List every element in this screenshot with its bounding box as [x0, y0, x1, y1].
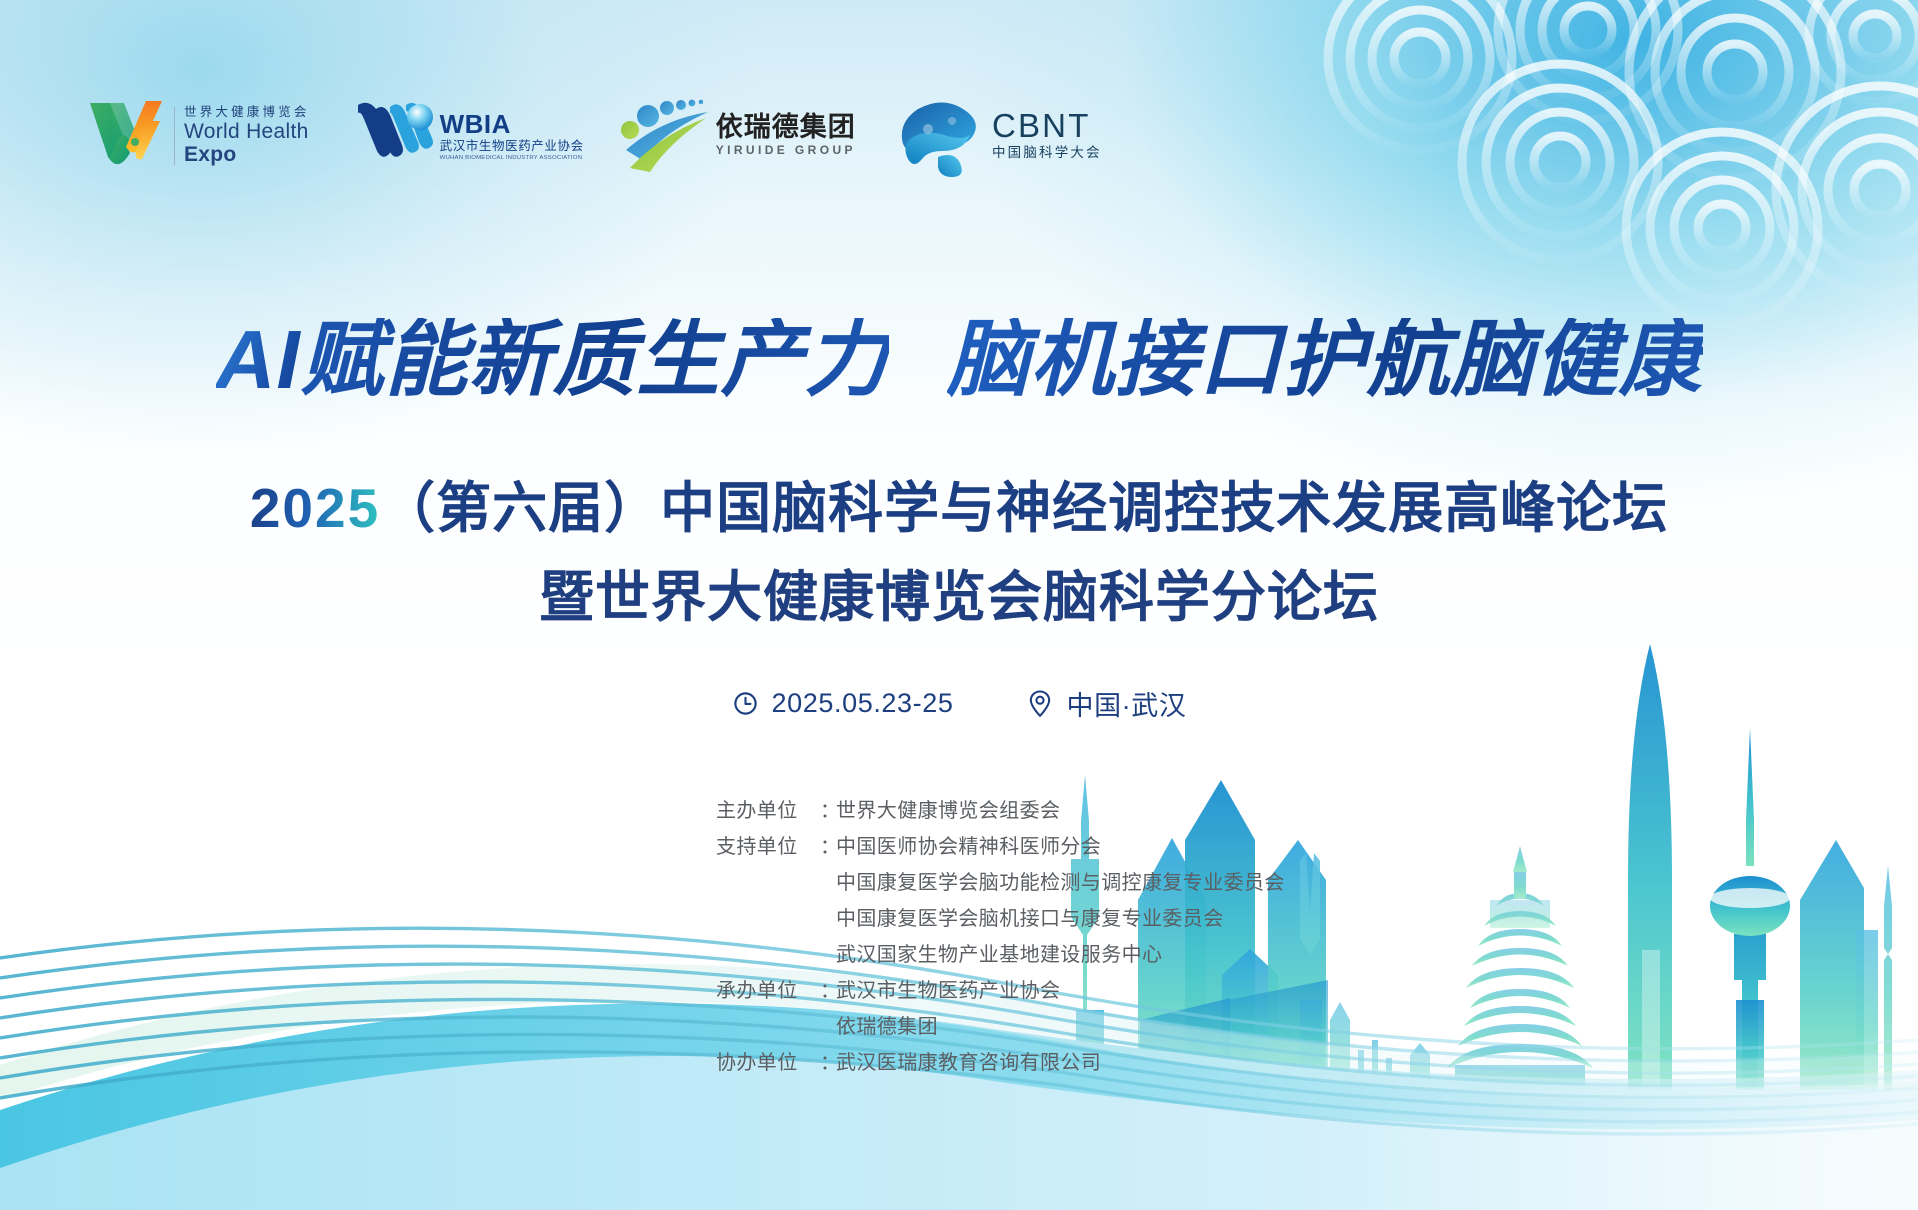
- organizer-value: 中国康复医学会脑功能检测与调控康复专业委员会: [836, 865, 1285, 901]
- organizer-value: 世界大健康博览会组委会: [836, 793, 1285, 829]
- yiruide-en: YIRUIDE GROUP: [716, 142, 856, 159]
- poster-headline: AI赋能新质生产力 脑机接口护航脑健康: [0, 318, 1918, 401]
- cbnt-cn: 中国脑科学大会: [992, 142, 1102, 164]
- event-location-text: 中国·武汉: [1066, 684, 1186, 723]
- logo-yiruide-group: 依瑞德集团 YIRUIDE GROUP: [620, 90, 856, 182]
- wbia-cn: 武汉市生物医药产业协会: [440, 137, 584, 156]
- organizer-row: 承办单位 ： 武汉市生物医药产业协会: [716, 973, 1285, 1009]
- subtitle-line-1-rest: （第六届）中国脑科学与神经调控技术发展高峰论坛: [380, 477, 1668, 539]
- organizer-row: 支持单位 ： 武汉国家生物产业基地建设服务中心: [716, 937, 1285, 973]
- organizer-row: 支持单位 ： 中国康复医学会脑功能检测与调控康复专业委员会: [716, 865, 1285, 901]
- event-date: 2025.05.23-25: [732, 688, 954, 719]
- organizer-label: 协办单位: [716, 1045, 820, 1081]
- cbnt-brain-mark: [898, 95, 984, 177]
- wbia-en: WBIA: [440, 111, 584, 137]
- poster-subtitle-line-1: 2025（第六届）中国脑科学与神经调控技术发展高峰论坛: [0, 463, 1918, 543]
- organizer-row: 协办单位 ： 武汉医瑞康教育咨询有限公司: [716, 1045, 1285, 1081]
- cbnt-en: CBNT: [992, 109, 1102, 142]
- world-health-expo-en-1: World Health: [184, 121, 310, 143]
- clock-icon: [732, 690, 759, 717]
- organizer-row: 承办单位 ： 依瑞德集团: [716, 1009, 1285, 1045]
- organizer-list: 主办单位 ： 世界大健康博览会组委会 支持单位 ： 中国医师协会精神科医师分会 …: [716, 793, 1285, 1081]
- headline-part-1-text: 赋能新质生产力: [301, 313, 889, 406]
- organizer-row: 支持单位 ： 中国医师协会精神科医师分会: [716, 829, 1285, 865]
- poster-subtitle-line-2: 暨世界大健康博览会脑科学分论坛: [0, 552, 1918, 632]
- headline-part-2: 脑机接口护航脑健康: [947, 318, 1703, 401]
- organizer-value: 依瑞德集团: [836, 1009, 1285, 1045]
- organizer-colon: ：: [820, 829, 836, 865]
- world-health-expo-mark: [84, 95, 168, 177]
- logo-wbia: WBIA 武汉市生物医药产业协会 WUHAN BIOMEDICAL INDUST…: [354, 90, 584, 182]
- yiruide-mark: [620, 96, 712, 176]
- organizer-colon: ：: [820, 973, 836, 1009]
- organizer-label: 支持单位: [716, 829, 820, 865]
- organizer-row: 主办单位 ： 世界大健康博览会组委会: [716, 793, 1285, 829]
- headline-ai-word: AI: [216, 313, 301, 406]
- wbia-mark: [354, 99, 438, 173]
- logo-divider: [174, 107, 175, 165]
- yiruide-cn: 依瑞德集团: [716, 113, 856, 141]
- organizer-value: 中国康复医学会脑机接口与康复专业委员会: [836, 901, 1285, 937]
- organizer-row: 支持单位 ： 中国康复医学会脑机接口与康复专业委员会: [716, 901, 1285, 937]
- organizer-value: 武汉医瑞康教育咨询有限公司: [836, 1045, 1285, 1081]
- organizer-label: 承办单位: [716, 973, 820, 1009]
- organizer-colon: ：: [820, 793, 836, 829]
- event-date-text: 2025.05.23-25: [772, 688, 954, 719]
- sponsor-logo-row: 世界大健康博览会 World Health Expo WBIA: [84, 88, 1102, 184]
- location-pin-icon: [1027, 690, 1053, 718]
- organizer-value: 武汉国家生物产业基地建设服务中心: [836, 937, 1285, 973]
- organizer-label: 主办单位: [716, 793, 820, 829]
- wbia-en-full: WUHAN BIOMEDICAL INDUSTRY ASSOCIATION: [440, 156, 584, 161]
- world-health-expo-en-2: Expo: [184, 143, 310, 167]
- event-location: 中国·武汉: [1027, 684, 1186, 723]
- logo-cbnt: CBNT 中国脑科学大会: [898, 90, 1102, 182]
- event-meta-row: 2025.05.23-25 中国·武汉: [0, 684, 1918, 723]
- organizer-value: 武汉市生物医药产业协会: [836, 973, 1285, 1009]
- conference-poster: 世界大健康博览会 World Health Expo WBIA: [0, 0, 1918, 1210]
- organizer-value: 中国医师协会精神科医师分会: [836, 829, 1285, 865]
- subtitle-year: 2025: [250, 477, 380, 539]
- organizer-colon: ：: [820, 1045, 836, 1081]
- world-health-expo-cn: 世界大健康博览会: [184, 105, 310, 121]
- headline-part-1: AI赋能新质生产力: [216, 318, 889, 401]
- logo-world-health-expo: 世界大健康博览会 World Health Expo: [84, 90, 310, 182]
